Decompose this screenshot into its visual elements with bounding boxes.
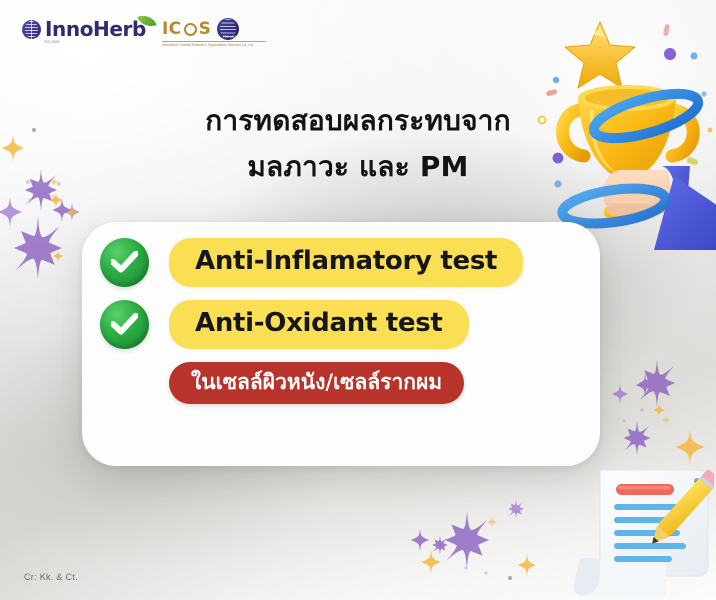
- icos-tis-label: TIS 1924: [223, 35, 238, 39]
- test-label-anti-oxidant: Anti-Oxidant test: [169, 300, 469, 349]
- check-circle-icon: [100, 300, 149, 349]
- globe-icon: [22, 20, 41, 39]
- check-circle-icon: [100, 238, 149, 287]
- status-badge: ในเซลล์ผิวหนัง/เซลล์รากผม: [169, 362, 464, 404]
- test-list: Anti-Inflamatory test Anti-Oxidant test …: [100, 238, 600, 404]
- logo-innoherb: InnoHerb TIS 1924: [22, 19, 146, 39]
- logo-bar: InnoHerb TIS 1924 IC S TIS 1924 Innovati…: [22, 18, 239, 40]
- headline-line-1: การทดสอบผลกระทบจาก: [205, 104, 511, 137]
- poster-canvas: InnoHerb TIS 1924 IC S TIS 1924 Innovati…: [0, 0, 716, 600]
- notepad-pencil-icon: [574, 454, 714, 600]
- badge-row: ในเซลล์ผิวหนัง/เซลล์รากผม: [169, 362, 600, 404]
- headline-line-2: มลภาวะ และ PM: [0, 144, 716, 190]
- credit-text: Cr: Kk. & Ct.: [24, 572, 78, 582]
- icos-divider: [162, 41, 266, 42]
- icos-caption: Innovative Contract Research Organizatio…: [162, 44, 267, 48]
- logo-icos: IC S TIS 1924 Innovative Contract Resear…: [162, 18, 239, 40]
- innoherb-wordmark: InnoHerb: [45, 19, 146, 39]
- list-item: Anti-Inflamatory test: [100, 238, 600, 287]
- page-title: การทดสอบผลกระทบจาก มลภาวะ และ PM: [0, 98, 716, 190]
- globe-icon: TIS 1924: [217, 18, 239, 40]
- gear-icon: [184, 23, 197, 36]
- innoherb-tagline: TIS 1924: [44, 40, 59, 44]
- icos-wordmark-left: IC: [162, 21, 182, 38]
- test-label-anti-inflamatory: Anti-Inflamatory test: [169, 238, 523, 287]
- icos-wordmark-right: S: [199, 21, 212, 38]
- list-item: Anti-Oxidant test: [100, 300, 600, 349]
